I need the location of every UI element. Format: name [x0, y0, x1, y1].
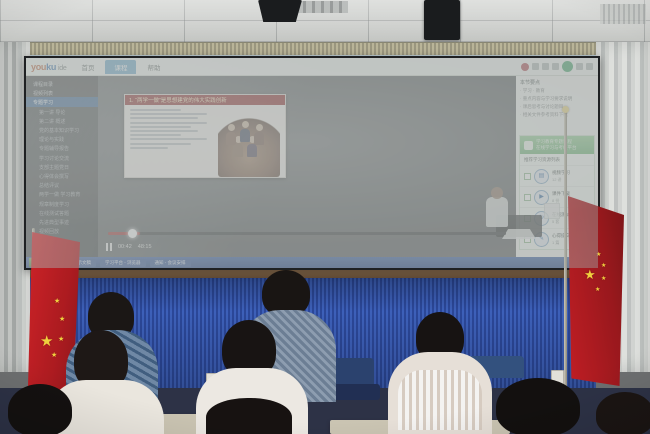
sidebar-item-6[interactable]: 理论与实践	[26, 134, 98, 143]
flag-star-small-right: ★	[595, 287, 600, 293]
flag-star-small-right: ★	[601, 263, 606, 269]
menu-icon[interactable]	[586, 63, 593, 70]
video-progress-bar[interactable]	[108, 232, 506, 235]
taskbar-item-2[interactable]: 通知 - 会议安排	[150, 259, 191, 267]
flag-star-small-left: ★	[59, 316, 65, 323]
settings-icon[interactable]	[576, 63, 583, 70]
flag-star-small-right: ★	[601, 276, 606, 282]
attendee-lace-top	[398, 370, 482, 430]
slide-text-line	[130, 138, 207, 140]
topbar-icons	[521, 61, 593, 72]
flag-star-small-left: ★	[54, 298, 60, 305]
video-progress-knob[interactable]	[128, 229, 137, 238]
tab-courses[interactable]: 课程	[105, 60, 136, 74]
flag-right: ★ ★ ★ ★ ★	[556, 100, 646, 390]
elapsed-time: 00:42	[118, 244, 132, 250]
record-icon[interactable]	[521, 63, 529, 71]
tab-help[interactable]: 帮助	[138, 60, 169, 74]
slide-text-line	[130, 117, 198, 119]
tab-home[interactable]: 首页	[72, 60, 103, 74]
windows-taskbar[interactable]: 开始 课件 - 演示文稿 学习平台 - 浏览器 通知 - 会议安排 中 14:2…	[26, 257, 598, 268]
book-icon	[524, 141, 533, 150]
slide-text-line	[130, 109, 181, 111]
app-topbar: you ku ide 首页 课程 帮助	[26, 58, 598, 76]
projection-screen: you ku ide 首页 课程 帮助	[24, 56, 600, 270]
sidebar-item-2-active[interactable]: 专题学习	[26, 97, 98, 106]
flag-star-large-right: ★	[584, 268, 596, 281]
flag-star-small-right: ★	[596, 252, 601, 258]
flag-star-large-left: ★	[40, 334, 53, 349]
projected-application: you ku ide 首页 课程 帮助	[26, 58, 598, 268]
slide-text-line	[130, 147, 168, 149]
sidebar-item-0[interactable]: 课程目录	[26, 79, 98, 88]
list-icon[interactable]	[552, 63, 559, 70]
slide-text-line	[130, 143, 191, 145]
flag-finial-right	[562, 106, 569, 113]
sidebar-item-4[interactable]: 第二讲 概述	[26, 116, 98, 125]
slide-text-block	[125, 105, 218, 177]
classroom-scene: you ku ide 首页 课程 帮助	[0, 0, 650, 434]
lecturer-figure	[470, 181, 566, 239]
sidebar-item-5[interactable]: 党的基本知识学习	[26, 125, 98, 134]
right-panel-header: 本节要点	[516, 76, 598, 87]
grid-icon[interactable]	[532, 63, 539, 70]
brand-logo: you ku ide	[31, 62, 66, 72]
curtain-left-inner	[0, 42, 18, 372]
sidebar-item-13[interactable]: 规章制度学习	[26, 199, 98, 208]
duration-time: 48:15	[138, 244, 152, 250]
slide-text-line	[130, 113, 207, 115]
sidebar-item-3[interactable]: 第一讲 导论	[26, 107, 98, 116]
sidebar-item-14[interactable]: 在线测试答题	[26, 208, 98, 217]
slide-title: 1. “两学一做”是思想建党的伟大实践创新	[125, 95, 285, 105]
sidebar-item-11[interactable]: 总结评议	[26, 180, 98, 189]
slide-group-photo	[218, 112, 280, 177]
sidebar-item-15[interactable]: 先进典型事迹	[26, 217, 98, 226]
flag-pole-right	[564, 110, 567, 390]
flag-star-small-left: ★	[58, 336, 64, 343]
sidebar-item-9[interactable]: 支部主题党日	[26, 162, 98, 171]
refresh-icon[interactable]	[562, 61, 573, 72]
flag-star-small-left: ★	[51, 352, 57, 359]
slide-text-line	[130, 126, 191, 128]
slide-text-line	[130, 122, 207, 124]
ceiling-speaker-right	[424, 0, 460, 40]
sidebar-item-10[interactable]: 心得体会撰写	[26, 171, 98, 180]
sidebar-item-1[interactable]: 视频列表	[26, 88, 98, 97]
taskbar-item-1[interactable]: 学习平台 - 浏览器	[100, 259, 146, 267]
brand-part-1: you	[31, 62, 46, 72]
resource-checkbox[interactable]	[524, 173, 531, 180]
ceiling-speaker-left	[258, 0, 302, 22]
slide-text-line	[130, 130, 198, 132]
app-body: 课程目录 视频列表 专题学习 第一讲 导论 第二讲 概述 党的基本知识学习 理论…	[26, 76, 598, 257]
right-panel-note-0: · 学习 · 教育	[516, 87, 598, 95]
sidebar-item-8[interactable]: 学习讨论交流	[26, 153, 98, 162]
slide-text-line	[130, 134, 181, 136]
pause-icon[interactable]	[106, 243, 112, 251]
share-icon[interactable]	[542, 63, 549, 70]
video-stage[interactable]: 1. “两学一做”是思想建党的伟大实践创新	[98, 76, 516, 257]
presentation-slide: 1. “两学一做”是思想建党的伟大实践创新	[124, 94, 286, 178]
nav-tabs: 首页 课程 帮助	[72, 60, 169, 74]
ceiling-lamp	[600, 4, 646, 24]
slide-body	[125, 105, 285, 177]
brand-part-2: ku	[46, 62, 56, 72]
lecturer-head	[491, 187, 503, 199]
lecturer-torso	[486, 197, 508, 227]
video-controls[interactable]: 00:42 48:15	[98, 239, 516, 255]
sidebar-item-7[interactable]: 专题辅导报告	[26, 143, 98, 152]
brand-suffix: ide	[58, 65, 66, 72]
sidebar-item-12[interactable]: 两学一做 学习教育	[26, 189, 98, 198]
